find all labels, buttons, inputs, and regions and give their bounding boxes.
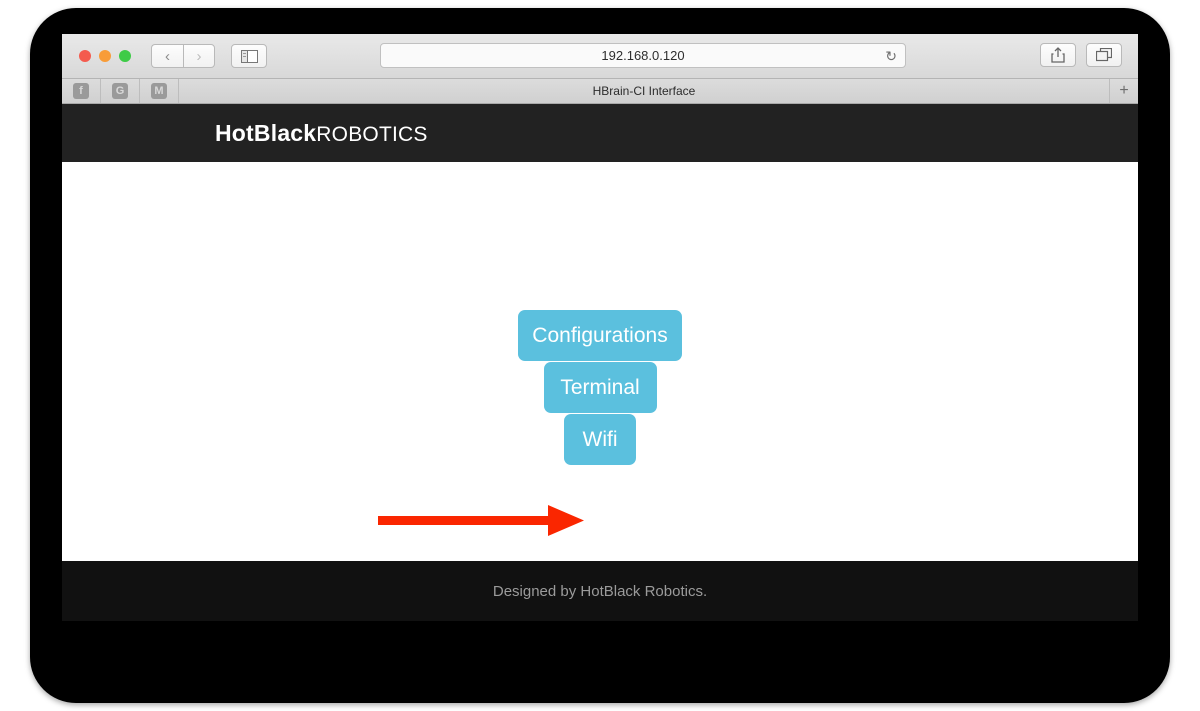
tabs-overview-button[interactable]	[1086, 43, 1122, 67]
new-tab-button[interactable]: +	[1109, 79, 1138, 103]
chevron-left-icon: ‹	[165, 49, 170, 64]
address-bar[interactable]: 192.168.0.120 ↻	[380, 43, 906, 68]
screenshot-root: ‹ › 192.168.0.120 ↻	[0, 0, 1200, 711]
address-input[interactable]: 192.168.0.120	[601, 48, 684, 63]
configurations-button[interactable]: Configurations	[518, 310, 682, 361]
google-icon: G	[112, 83, 128, 99]
favorite-facebook[interactable]: f	[62, 79, 101, 103]
web-page: HotBlackROBOTICS Configurations Terminal…	[62, 104, 1138, 621]
site-navbar: HotBlackROBOTICS	[62, 104, 1138, 162]
chevron-right-icon: ›	[197, 49, 202, 64]
reload-icon[interactable]: ↻	[885, 49, 897, 63]
annotation-arrow	[378, 503, 585, 538]
forward-button[interactable]: ›	[183, 44, 215, 68]
window-controls	[79, 50, 131, 62]
favorite-gmail[interactable]: M	[140, 79, 179, 103]
plus-icon: +	[1119, 83, 1128, 99]
back-button[interactable]: ‹	[151, 44, 183, 68]
wifi-button[interactable]: Wifi	[564, 414, 636, 465]
footer-text: Designed by HotBlack Robotics.	[493, 583, 707, 600]
tabs-overview-icon	[1096, 48, 1112, 62]
page-content: Configurations Terminal Wifi	[62, 162, 1138, 561]
tab-strip: f G M HBrain-CI Interface +	[62, 79, 1138, 104]
site-footer: Designed by HotBlack Robotics.	[62, 561, 1138, 621]
toolbar-right-group	[1040, 43, 1122, 67]
zoom-window-button[interactable]	[119, 50, 131, 62]
brand-bold-text: HotBlack	[215, 120, 316, 146]
browser-toolbar: ‹ › 192.168.0.120 ↻	[62, 34, 1138, 79]
menu-button-stack: Configurations Terminal Wifi	[62, 310, 1138, 465]
facebook-icon: f	[73, 83, 89, 99]
site-logo[interactable]: HotBlackROBOTICS	[215, 120, 428, 147]
close-window-button[interactable]	[79, 50, 91, 62]
active-tab[interactable]: HBrain-CI Interface	[179, 79, 1109, 103]
share-button[interactable]	[1040, 43, 1076, 67]
terminal-button[interactable]: Terminal	[544, 362, 657, 413]
brand-light-text: ROBOTICS	[316, 123, 427, 146]
favorite-google[interactable]: G	[101, 79, 140, 103]
sidebar-toggle-button[interactable]	[231, 44, 267, 68]
navigation-buttons: ‹ ›	[151, 44, 215, 68]
sidebar-icon	[241, 50, 258, 63]
share-icon	[1051, 47, 1065, 63]
address-bar-container: 192.168.0.120 ↻	[380, 43, 906, 68]
gmail-icon: M	[151, 83, 167, 99]
minimize-window-button[interactable]	[99, 50, 111, 62]
tab-title-label: HBrain-CI Interface	[593, 84, 696, 98]
browser-window: ‹ › 192.168.0.120 ↻	[62, 34, 1138, 621]
